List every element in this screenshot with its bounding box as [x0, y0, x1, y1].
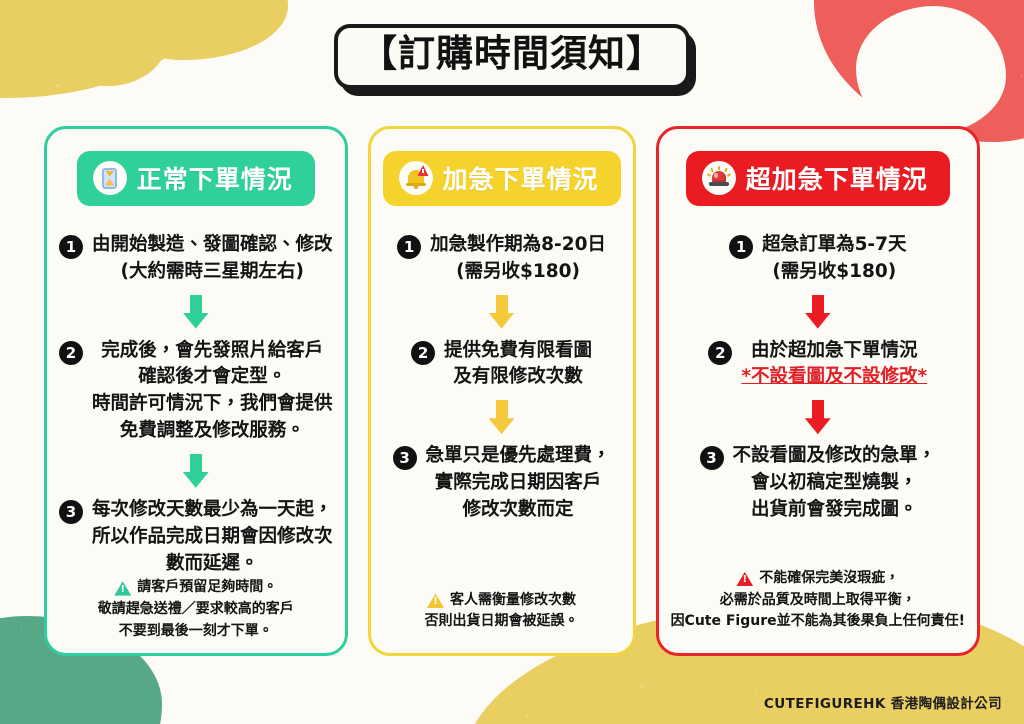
step-text: 加急製作期為8-20日 (需另收$180): [430, 232, 606, 286]
card-header-label: 超加急下單情況: [746, 160, 928, 196]
note-line: 客人需衡量修改次數: [450, 590, 576, 612]
step-number: 2: [59, 341, 83, 365]
page-title-wrap: 【訂購時間須知】: [0, 24, 1024, 89]
arrow-down-icon: [489, 400, 515, 434]
step-item: 1 超急訂單為5-7天 (需另收$180): [671, 232, 965, 286]
step-text: 每次修改天數最少為一天起， 所以作品完成日期會因修改次 數而延遲。: [92, 497, 333, 577]
step-line: (大約需時三星期左右): [121, 259, 304, 286]
step-line: 時間許可情況下，我們會提供: [92, 391, 333, 418]
steps-list-super-rush: 1 超急訂單為5-7天 (需另收$180) 2 由於超加急下單情況 *不設看圖及…: [671, 232, 965, 524]
step-text: 超急訂單為5-7天 (需另收$180): [762, 232, 906, 286]
step-line: 由於超加急下單情況: [751, 338, 918, 365]
infographic-canvas: 【訂購時間須知】 正常下單情況 1 由開始製造、發圖確認、修改: [0, 0, 1024, 724]
page-title-shadow: 【訂購時間須知】: [334, 24, 690, 89]
hourglass-icon: [93, 161, 127, 195]
step-number: 3: [393, 446, 417, 470]
card-header-label: 加急下單情況: [443, 160, 599, 196]
step-line: 所以作品完成日期會因修改次: [92, 524, 333, 551]
step-line: 由開始製造、發圖確認、修改: [92, 232, 333, 259]
step-line: 及有限修改次數: [453, 364, 583, 391]
step-line: 加急製作期為8-20日: [430, 232, 606, 259]
step-text: 由開始製造、發圖確認、修改 (大約需時三星期左右): [92, 232, 333, 286]
step-text: 由於超加急下單情況 *不設看圖及不設修改*: [741, 338, 927, 392]
step-line: 實際完成日期因客戶: [435, 470, 602, 497]
arrow-down-icon: [183, 454, 209, 488]
page-title: 【訂購時間須知】: [360, 35, 664, 74]
step-text: 不設看圖及修改的急單， 會以初稿定型燒製， 出貨前會發完成圖。: [733, 443, 937, 523]
steps-list-normal: 1 由開始製造、發圖確認、修改 (大約需時三星期左右) 2 完成後，會先發照片給…: [59, 232, 333, 577]
step-line: 修改次數而定: [463, 497, 574, 524]
step-number: 2: [411, 341, 435, 365]
step-number: 1: [729, 235, 753, 259]
bell-alert-icon: [399, 161, 433, 195]
note-line: 不要到最後一刻才下單。: [119, 621, 273, 643]
card-header-label: 正常下單情況: [137, 160, 293, 196]
warning-triangle-icon: [427, 593, 444, 608]
note-line: 因Cute Figure並不能為其後果負上任何責任!: [671, 611, 965, 633]
note-super-rush: 不能確保完美沒瑕疵， 必需於品質及時間上取得平衡， 因Cute Figure並不…: [671, 568, 965, 637]
columns-container: 正常下單情況 1 由開始製造、發圖確認、修改 (大約需時三星期左右) 2 完成後…: [44, 126, 980, 656]
step-item: 3 每次修改天數最少為一天起， 所以作品完成日期會因修改次 數而延遲。: [59, 497, 333, 577]
page-title-box: 【訂購時間須知】: [334, 24, 690, 89]
step-text: 急單只是優先處理費， 實際完成日期因客戶 修改次數而定: [426, 443, 611, 523]
step-number: 3: [59, 500, 83, 524]
arrow-down-icon: [805, 295, 831, 329]
note-normal: 請客戶預留足夠時間。 敬請趕急送禮／要求較高的客戶 不要到最後一刻才下單。: [98, 577, 294, 646]
note-line: 請客戶預留足夠時間。: [137, 577, 277, 599]
card-header-rush-order: 加急下單情況: [383, 151, 621, 206]
step-number: 3: [700, 446, 724, 470]
step-line: 出貨前會發完成圖。: [751, 497, 918, 524]
arrow-down-icon: [489, 295, 515, 329]
card-super-rush-order: 超加急下單情況 1 超急訂單為5-7天 (需另收$180) 2 由於超加急下單情…: [656, 126, 980, 656]
card-header-super-rush-order: 超加急下單情況: [686, 151, 950, 206]
note-line: 不能確保完美沒瑕疵，: [759, 568, 899, 590]
step-item: 2 提供免費有限看圖 及有限修改次數: [383, 338, 621, 392]
note-line: 否則出貨日期會被延誤。: [425, 611, 579, 633]
step-line: 確認後才會定型。: [138, 364, 286, 391]
step-item: 1 由開始製造、發圖確認、修改 (大約需時三星期左右): [59, 232, 333, 286]
step-item: 2 完成後，會先發照片給客戶 確認後才會定型。 時間許可情況下，我們會提供 免費…: [59, 338, 333, 445]
step-number: 1: [59, 235, 83, 259]
step-line: 急單只是優先處理費，: [426, 443, 611, 470]
step-line: (需另收$180): [772, 259, 896, 286]
step-item: 2 由於超加急下單情況 *不設看圖及不設修改*: [671, 338, 965, 392]
brand-footer: CUTEFIGUREHK 香港陶偶設計公司: [764, 692, 1002, 712]
step-text: 完成後，會先發照片給客戶 確認後才會定型。 時間許可情況下，我們會提供 免費調整…: [92, 338, 333, 445]
step-line: 每次修改天數最少為一天起，: [92, 497, 333, 524]
siren-icon: [702, 161, 736, 195]
step-line-alert: *不設看圖及不設修改*: [741, 364, 927, 391]
step-number: 2: [708, 341, 732, 365]
note-line: 敬請趕急送禮／要求較高的客戶: [98, 599, 294, 621]
step-item: 1 加急製作期為8-20日 (需另收$180): [383, 232, 621, 286]
card-header-normal-order: 正常下單情況: [77, 151, 315, 206]
step-line: 提供免費有限看圖: [444, 338, 592, 365]
step-line: 完成後，會先發照片給客戶: [101, 338, 323, 365]
step-text: 提供免費有限看圖 及有限修改次數: [444, 338, 592, 392]
steps-list-rush: 1 加急製作期為8-20日 (需另收$180) 2 提供免費有限看圖 及有限修改…: [383, 232, 621, 524]
step-line: 數而延遲。: [166, 551, 259, 578]
step-line: (需另收$180): [456, 259, 580, 286]
card-normal-order: 正常下單情況 1 由開始製造、發圖確認、修改 (大約需時三星期左右) 2 完成後…: [44, 126, 348, 656]
arrow-down-icon: [805, 400, 831, 434]
warning-triangle-icon: [114, 581, 131, 596]
step-item: 3 急單只是優先處理費， 實際完成日期因客戶 修改次數而定: [383, 443, 621, 523]
warning-triangle-icon: [736, 571, 753, 586]
step-line: 免費調整及修改服務。: [120, 418, 305, 445]
step-number: 1: [397, 235, 421, 259]
step-line: 超急訂單為5-7天: [762, 232, 906, 259]
step-line: 會以初稿定型燒製，: [751, 470, 918, 497]
step-item: 3 不設看圖及修改的急單， 會以初稿定型燒製， 出貨前會發完成圖。: [671, 443, 965, 523]
step-line: 不設看圖及修改的急單，: [733, 443, 937, 470]
card-rush-order: 加急下單情況 1 加急製作期為8-20日 (需另收$180) 2 提供免費有限看…: [368, 126, 636, 656]
note-rush: 客人需衡量修改次數 否則出貨日期會被延誤。: [425, 590, 579, 637]
note-line: 必需於品質及時間上取得平衡，: [720, 590, 916, 612]
arrow-down-icon: [183, 295, 209, 329]
